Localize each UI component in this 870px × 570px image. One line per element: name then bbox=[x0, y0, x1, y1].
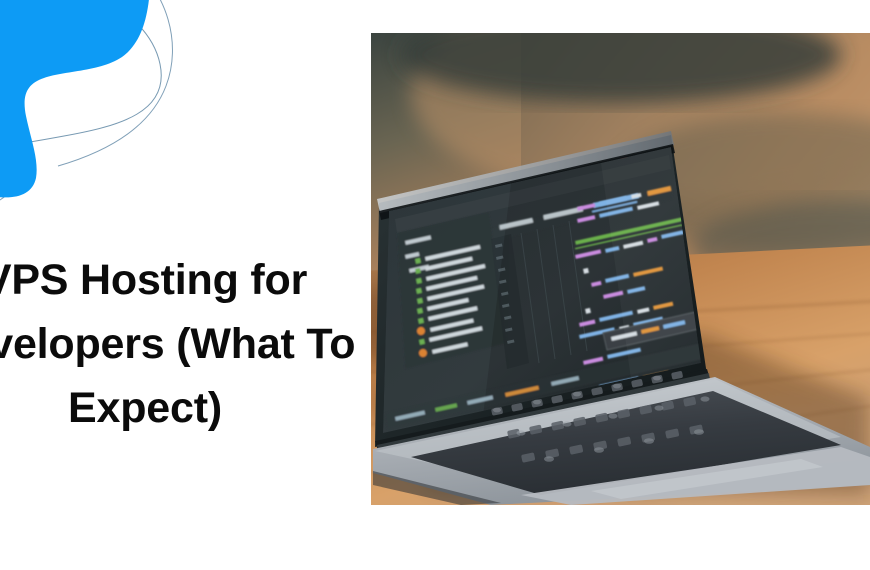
blob-outline-arc-lower bbox=[0, 112, 19, 208]
laptop-photo bbox=[371, 33, 870, 505]
blue-blob-svg bbox=[0, 0, 300, 260]
blob-outline-arc-upper bbox=[0, 0, 161, 150]
page-title: VPS Hosting for Developers (What To Expe… bbox=[0, 248, 385, 440]
headline-line-1: VPS Hosting for bbox=[0, 248, 385, 312]
featured-image-canvas: VPS Hosting for Developers (What To Expe… bbox=[0, 0, 870, 570]
blob-outline-arc-right bbox=[58, 0, 172, 166]
headline-line-2: Developers (What To bbox=[0, 312, 385, 376]
blob-shape bbox=[0, 0, 151, 197]
headline-line-3: Expect) bbox=[0, 376, 385, 440]
laptop-photo-svg bbox=[371, 33, 870, 505]
blue-blob-decoration bbox=[0, 0, 300, 260]
